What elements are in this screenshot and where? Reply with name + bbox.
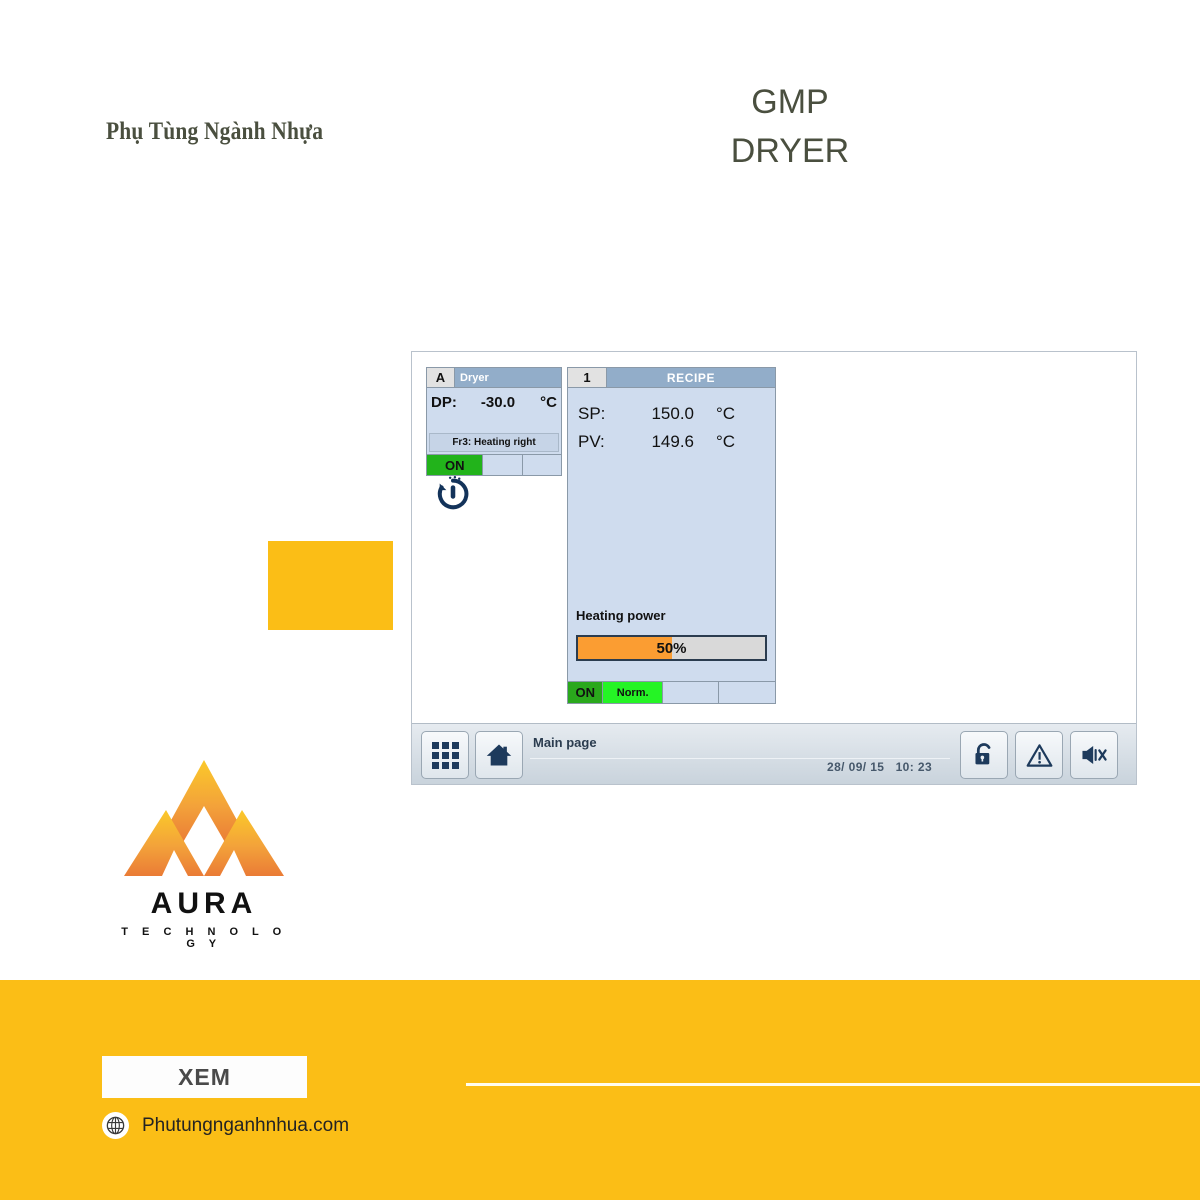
footer-divider-line [466, 1083, 1200, 1086]
processvalue-value: 149.6 [622, 432, 694, 452]
toolbar-divider [530, 758, 950, 759]
decorative-yellow-square [268, 541, 393, 630]
dryer-on-button[interactable]: ON [427, 455, 483, 475]
recipe-button-4[interactable] [719, 682, 775, 703]
dryer-card-spacer [427, 417, 561, 433]
recipe-card-title: RECIPE [607, 368, 775, 387]
company-logo: AURA T E C H N O L O G Y [118, 758, 290, 950]
dewpoint-value: -30.0 [465, 394, 531, 411]
alarm-button[interactable] [1015, 731, 1063, 779]
globe-icon [102, 1112, 129, 1139]
recipe-button-3[interactable] [663, 682, 720, 703]
cta-button[interactable]: XEM [102, 1056, 307, 1098]
setpoint-unit: °C [694, 404, 735, 424]
recipe-card[interactable]: 1 RECIPE SP: 150.0 °C PV: 149.6 °C Heati… [567, 367, 776, 704]
page-title-line1: GMP [640, 78, 940, 127]
timer-power-icon[interactable] [434, 474, 472, 512]
grid-icon [432, 742, 459, 769]
processvalue-unit: °C [694, 432, 735, 452]
lock-icon [971, 742, 997, 768]
recipe-card-tab[interactable]: 1 [568, 368, 607, 387]
setpoint-value[interactable]: 150.0 [622, 404, 694, 424]
dryer-button-3[interactable] [523, 455, 561, 475]
dryer-button-row: ON [427, 454, 561, 475]
dryer-card-tab[interactable]: A [427, 368, 455, 387]
setpoint-row: SP: 150.0 °C [568, 400, 775, 428]
toolbar-datetime: 28/ 09/ 15 10: 23 [827, 760, 932, 774]
recipe-card-body: SP: 150.0 °C PV: 149.6 °C Heating power … [568, 388, 775, 681]
dewpoint-unit: °C [531, 394, 557, 411]
brand-title-left: Phụ Tùng Ngành Nhựa [106, 118, 323, 146]
toolbar-time: 10: 23 [896, 760, 932, 774]
recipe-button-row: ON Norm. [568, 681, 775, 703]
dryer-button-2[interactable] [483, 455, 522, 475]
home-button[interactable] [475, 731, 523, 779]
recipe-on-button[interactable]: ON [568, 682, 603, 703]
hmi-panel: A Dryer DP: -30.0 °C Fr3: Heating right … [411, 351, 1137, 785]
toolbar-date: 28/ 09/ 15 [827, 760, 884, 774]
heating-power-value: 50% [578, 637, 765, 659]
hmi-screen: A Dryer DP: -30.0 °C Fr3: Heating right … [412, 352, 1136, 724]
dryer-card-title: Dryer [455, 368, 561, 387]
website-url[interactable]: Phutungnganhnhua.com [142, 1115, 349, 1137]
processvalue-label: PV: [578, 432, 622, 452]
lock-button[interactable] [960, 731, 1008, 779]
mute-button[interactable] [1070, 731, 1118, 779]
heating-power-bar[interactable]: 50% [576, 635, 767, 661]
current-page-label: Main page [533, 735, 597, 750]
dryer-card-header: A Dryer [427, 368, 561, 388]
processvalue-row: PV: 149.6 °C [568, 428, 775, 456]
aura-mountain-icon [118, 758, 290, 880]
logo-tagline: T E C H N O L O G Y [118, 926, 290, 950]
recipe-norm-button[interactable]: Norm. [603, 682, 662, 703]
dryer-card[interactable]: A Dryer DP: -30.0 °C Fr3: Heating right … [426, 367, 562, 476]
menu-grid-button[interactable] [421, 731, 469, 779]
mute-icon [1080, 741, 1108, 769]
recipe-card-header: 1 RECIPE [568, 368, 775, 388]
hmi-toolbar: Main page 28/ 09/ 15 10: 23 [412, 723, 1136, 784]
dewpoint-label: DP: [431, 394, 465, 411]
page-title: GMP DRYER [640, 78, 940, 176]
setpoint-label: SP: [578, 404, 622, 424]
warning-icon [1026, 742, 1053, 769]
website-row[interactable]: Phutungnganhnhua.com [102, 1112, 349, 1139]
logo-wordmark: AURA [118, 887, 290, 921]
heating-power-label: Heating power [576, 608, 666, 623]
home-icon [485, 741, 513, 769]
page-title-line2: DRYER [640, 127, 940, 176]
dryer-status-badge: Fr3: Heating right [429, 433, 559, 452]
dewpoint-row: DP: -30.0 °C [427, 388, 561, 417]
